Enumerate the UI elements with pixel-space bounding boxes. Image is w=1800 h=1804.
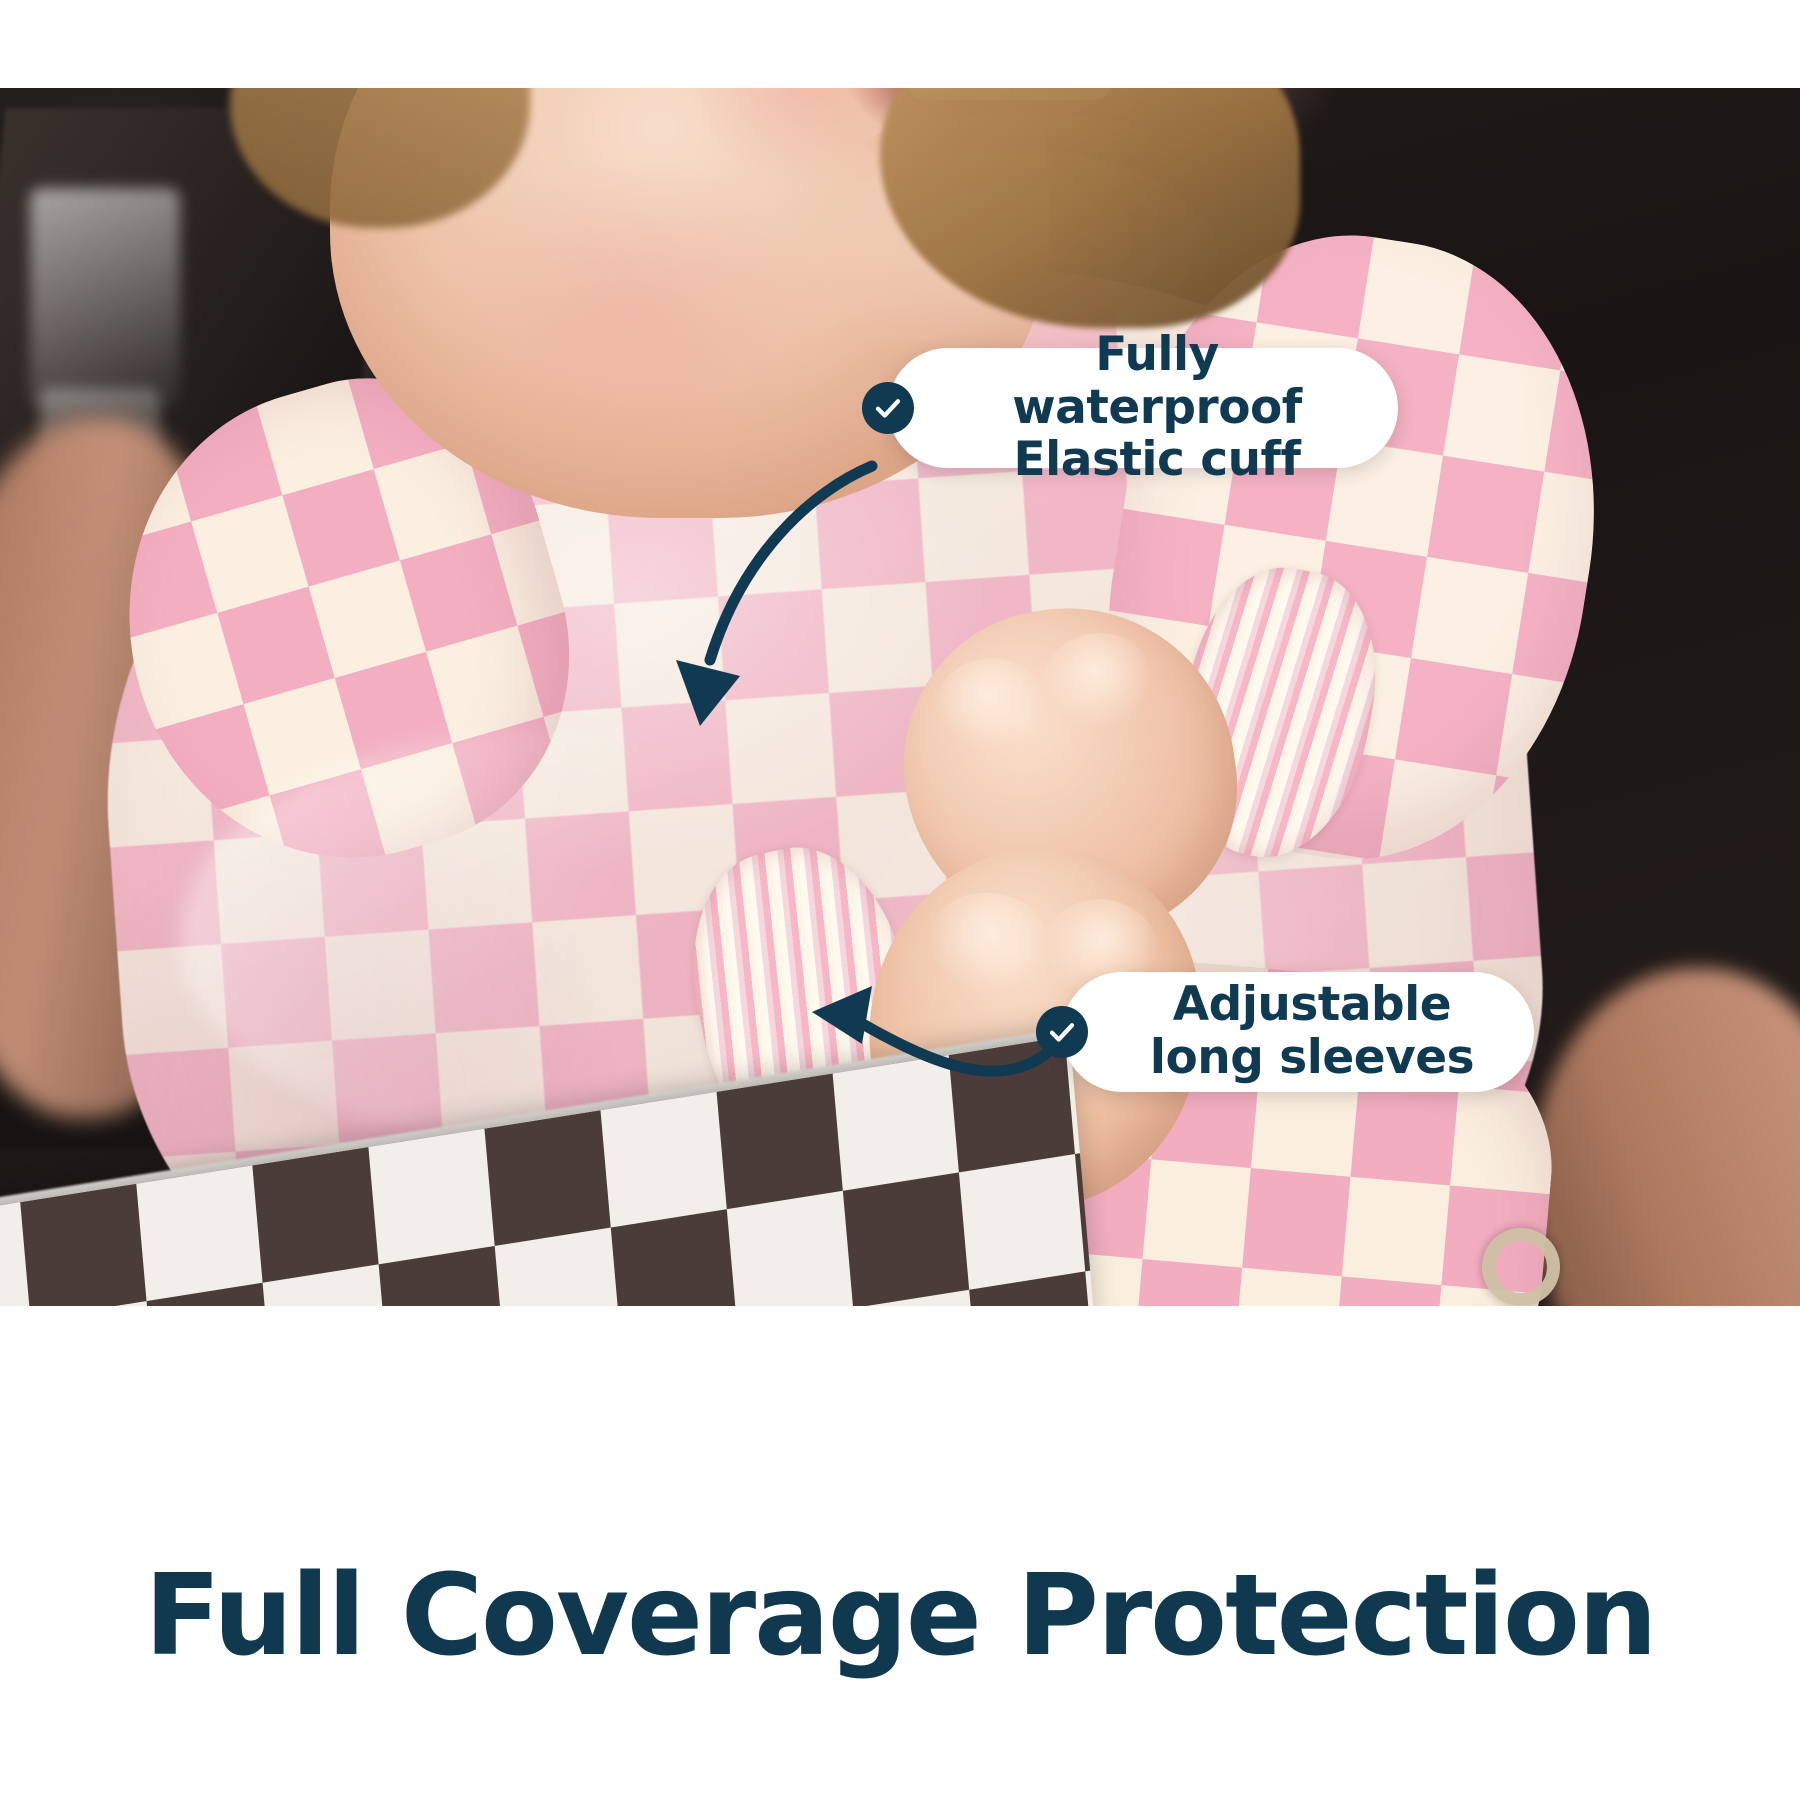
callout-sleeves-line2: long sleeves <box>1150 1030 1474 1085</box>
photo-canvas <box>0 88 1800 1306</box>
callout-sleeves[interactable]: Adjustable long sleeves <box>1062 972 1534 1092</box>
adult-ring <box>1482 1228 1560 1306</box>
page-title: Full Coverage Protection <box>0 1560 1800 1672</box>
callout-sleeves-line1: Adjustable <box>1173 977 1451 1032</box>
callout-waterproof-line1: Fully waterproof <box>1012 327 1302 435</box>
knuckle <box>1036 626 1158 735</box>
callout-waterproof[interactable]: Fully waterproof Elastic cuff <box>888 348 1398 468</box>
check-circle-icon <box>862 382 914 434</box>
callout-sleeves-text: Adjustable long sleeves <box>1120 979 1504 1084</box>
check-circle-icon <box>1036 1006 1088 1058</box>
product-photo <box>0 88 1800 1306</box>
callout-waterproof-text: Fully waterproof Elastic cuff <box>950 329 1364 487</box>
seat-highlight <box>30 188 180 408</box>
knuckle <box>929 651 1050 755</box>
knuckle <box>924 887 1054 999</box>
product-feature-card: Fully waterproof Elastic cuff Adjustable… <box>0 0 1800 1800</box>
callout-waterproof-line2: Elastic cuff <box>1014 432 1301 487</box>
